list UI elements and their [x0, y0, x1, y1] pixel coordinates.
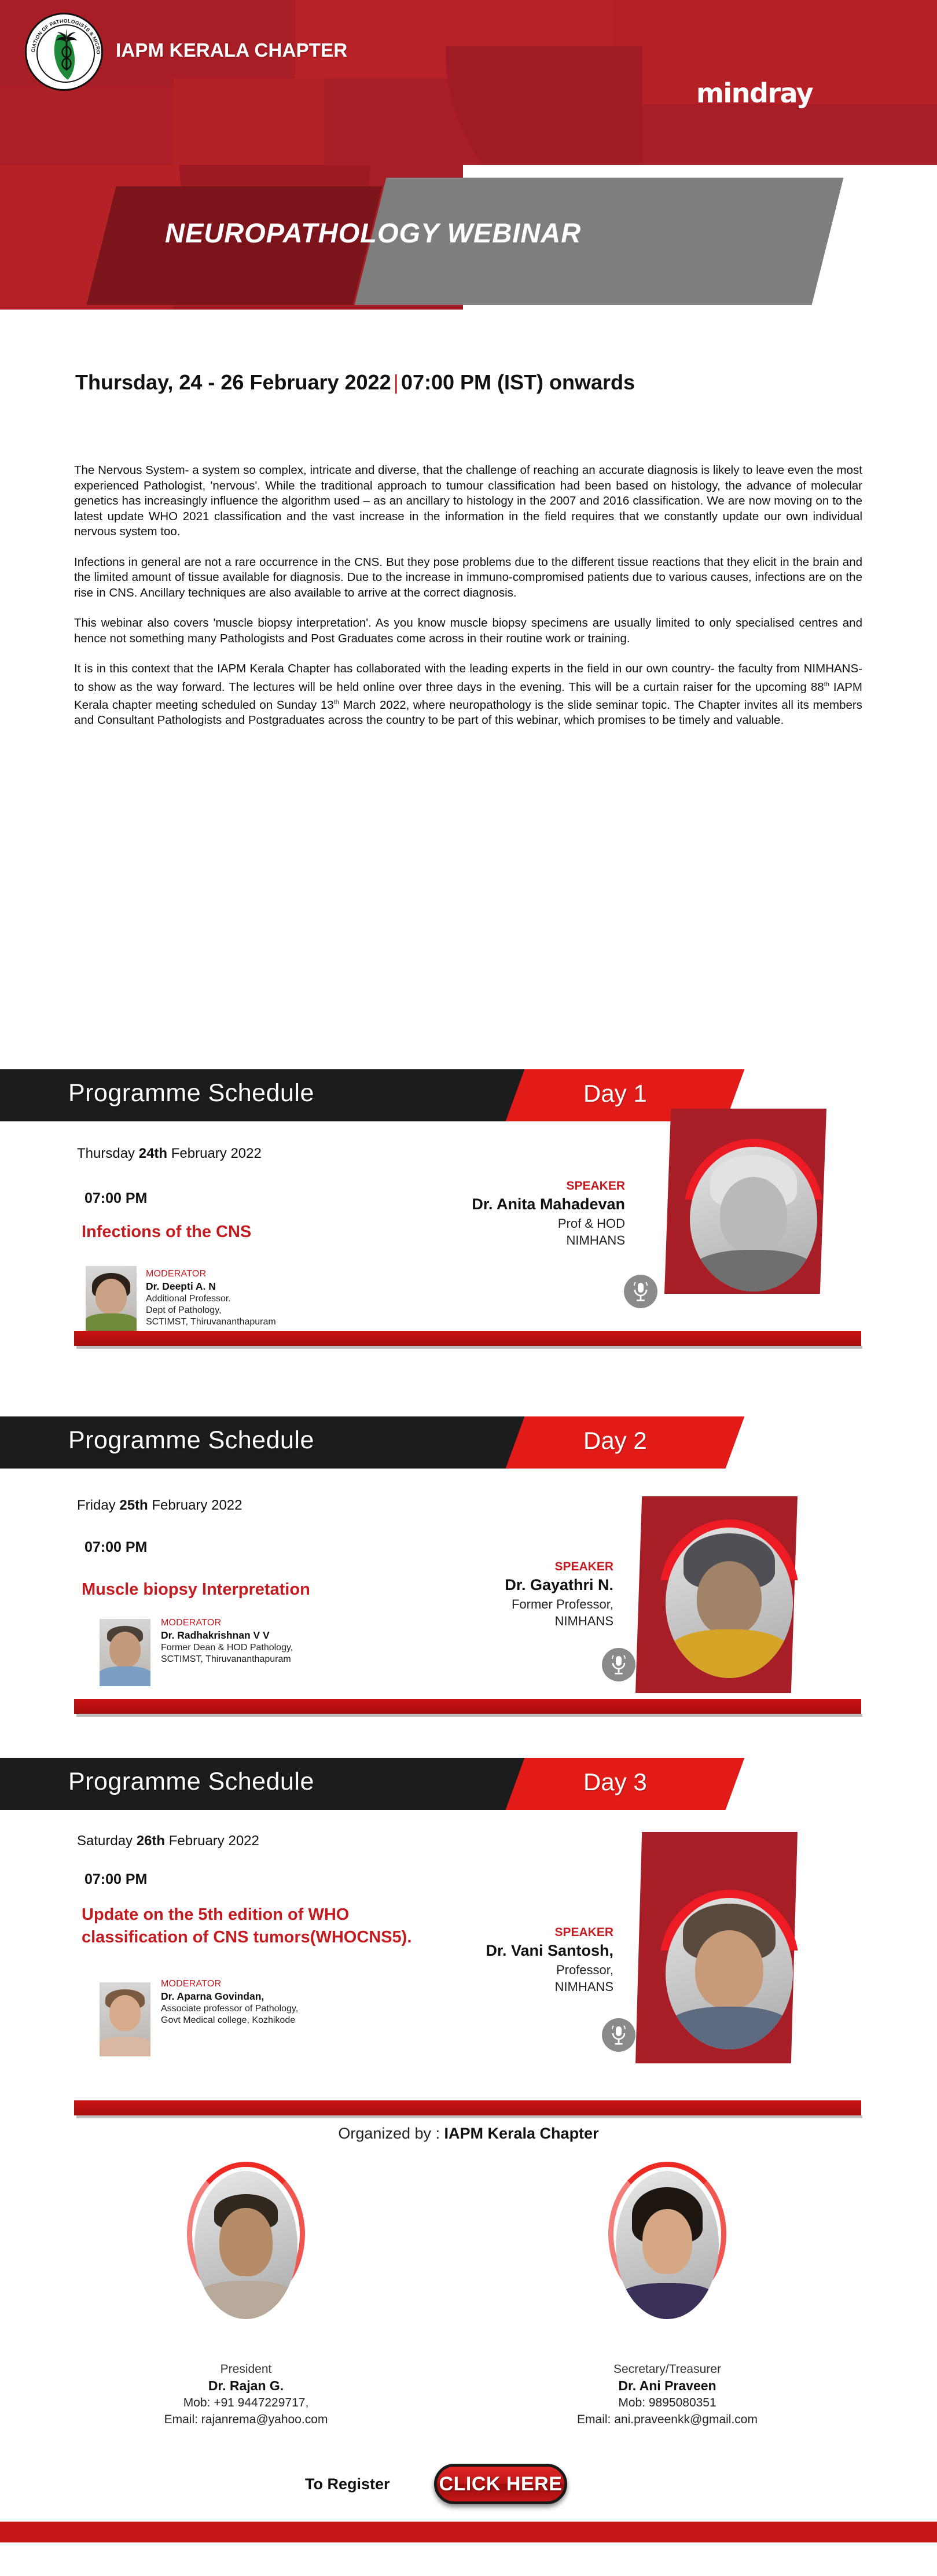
- day1-speaker-label: SPEAKER: [451, 1179, 625, 1193]
- avatar-body: [668, 1629, 791, 1678]
- day2-date-prefix: Friday: [77, 1497, 119, 1513]
- day2-divider-shadow: [76, 1714, 862, 1717]
- day2-moderator-photo: [100, 1619, 150, 1686]
- day1-moderator-photo: [86, 1266, 137, 1333]
- about-paragraph-4: It is in this context that the IAPM Kera…: [74, 661, 862, 728]
- organized-by-org: IAPM Kerala Chapter: [444, 2125, 599, 2142]
- register-row: To Register CLICK HERE: [0, 2459, 937, 2511]
- secretary-email: Email: ani.praveenkk@gmail.com: [517, 2411, 818, 2428]
- day3-moderator-photo: [100, 1982, 150, 2056]
- day3-date-prefix: Saturday: [77, 1833, 137, 1849]
- avatar: [194, 2171, 297, 2319]
- day2-date: Friday 25th February 2022: [77, 1497, 242, 1514]
- microphone-glyph: [631, 1280, 650, 1302]
- microphone-glyph: [609, 2024, 628, 2046]
- avatar-face: [95, 1279, 127, 1315]
- kerala-map-palm-caduceus-icon: [38, 25, 95, 83]
- event-datetime-line: Thursday, 24 - 26 February 2022|07:00 PM…: [75, 370, 635, 395]
- day3-speaker-name: Dr. Vani Santosh,: [359, 1942, 613, 1960]
- day-badge-2: Day 2: [583, 1427, 647, 1455]
- schedule-bar-day1: Programme Schedule Day 1: [0, 1069, 721, 1121]
- logo-inner-disc: [36, 24, 95, 83]
- header-org-title: IAPM KERALA CHAPTER: [116, 39, 347, 61]
- avatar-body: [100, 1666, 150, 1686]
- avatar-body: [618, 2283, 717, 2319]
- organized-by-prefix: Organized by :: [338, 2125, 444, 2142]
- avatar-face: [695, 1930, 763, 2009]
- day1-time: 07:00 PM: [84, 1190, 147, 1207]
- avatar-body: [86, 1313, 137, 1333]
- day1-divider: [74, 1331, 861, 1346]
- president-contact: President Dr. Rajan G. Mob: +91 94472297…: [95, 2361, 396, 2428]
- day1-moderator-affiliation: Additional Professor. Dept of Pathology,…: [146, 1293, 389, 1328]
- p4-part1: It is in this context that the IAPM Kera…: [74, 662, 862, 693]
- day2-date-suffix: February 2022: [148, 1497, 242, 1513]
- day1-date-suffix: February 2022: [167, 1146, 262, 1161]
- iapm-logo-icon: INDIAN ASSOCIATION OF PATHOLOGISTS & MIC…: [25, 13, 103, 91]
- click-here-button[interactable]: CLICK HERE: [434, 2464, 567, 2504]
- day2-speaker-affiliation: Former Professor, NIMHANS: [382, 1596, 613, 1629]
- day2-time: 07:00 PM: [84, 1539, 147, 1556]
- day-section-3: Programme Schedule Day 3 Saturday 26th F…: [0, 1758, 937, 2117]
- day2-moderator-info: MODERATOR Dr. Radhakrishnan V V Former D…: [161, 1618, 404, 1665]
- day2-speaker-label: SPEAKER: [440, 1560, 613, 1574]
- day2-speaker-name: Dr. Gayathri N.: [382, 1576, 613, 1594]
- about-body: The Nervous System- a system so complex,…: [74, 463, 862, 744]
- about-paragraph-2: Infections in general are not a rare occ…: [74, 555, 862, 601]
- avatar-body: [196, 2281, 296, 2319]
- avatar-face: [109, 1632, 141, 1668]
- day1-date-day: 24th: [139, 1146, 167, 1161]
- day2-moderator-affiliation: Former Dean & HOD Pathology, SCTIMST, Th…: [161, 1642, 404, 1665]
- webinar-banner: NEUROPATHOLOGY WEBINAR: [0, 165, 937, 310]
- day2-speaker-photo: [666, 1528, 793, 1678]
- avatar-face: [697, 1561, 762, 1635]
- day-section-2: Programme Schedule Day 2 Friday 25th Feb…: [0, 1416, 937, 1717]
- day3-divider-shadow: [76, 2115, 862, 2118]
- avatar-face: [219, 2208, 273, 2276]
- about-paragraph-3: This webinar also covers 'muscle biopsy …: [74, 616, 862, 646]
- day1-moderator-name: Dr. Deepti A. N: [146, 1280, 389, 1293]
- secretary-role: Secretary/Treasurer: [517, 2361, 818, 2378]
- avatar-body: [693, 1250, 814, 1291]
- avatar-face: [109, 1995, 141, 2031]
- microphone-icon: [602, 2018, 635, 2052]
- day3-speaker-photo: [666, 1898, 793, 2049]
- p4-sup1: th: [824, 681, 829, 688]
- day3-speaker-label: SPEAKER: [440, 1926, 613, 1940]
- day2-divider: [74, 1699, 861, 1714]
- banner-title: NEUROPATHOLOGY WEBINAR: [165, 217, 802, 249]
- day3-moderator-affiliation: Associate professor of Pathology, Govt M…: [161, 2003, 416, 2026]
- president-name: Dr. Rajan G.: [95, 2378, 396, 2394]
- schedule-title-day1: Programme Schedule: [68, 1079, 314, 1107]
- president-photo: [191, 2164, 301, 2320]
- avatar-body: [667, 2007, 791, 2049]
- microphone-icon: [602, 1648, 635, 1681]
- day1-speaker-affiliation: Prof & HOD NIMHANS: [394, 1215, 625, 1249]
- avatar-face: [642, 2209, 692, 2274]
- event-separator: |: [391, 370, 401, 394]
- header-decor-curve: [446, 46, 642, 165]
- secretary-name: Dr. Ani Praveen: [517, 2378, 818, 2394]
- footer-bar: [0, 2522, 937, 2542]
- day-badge-3: Day 3: [583, 1768, 647, 1796]
- header-decor-shape: [0, 87, 174, 165]
- schedule-title-day2: Programme Schedule: [68, 1426, 314, 1455]
- day2-moderator-name: Dr. Radhakrishnan V V: [161, 1629, 404, 1642]
- president-mobile: Mob: +91 9447229717,: [95, 2394, 396, 2411]
- page-header: INDIAN ASSOCIATION OF PATHOLOGISTS & MIC…: [0, 0, 937, 165]
- secretary-mobile: Mob: 9895080351: [517, 2394, 818, 2411]
- day1-moderator-label: MODERATOR: [146, 1269, 389, 1279]
- avatar-body: [100, 2037, 150, 2056]
- day3-date: Saturday 26th February 2022: [77, 1833, 259, 1849]
- avatar: [616, 2171, 719, 2319]
- day1-date: Thursday 24th February 2022: [77, 1146, 262, 1162]
- about-paragraph-1: The Nervous System- a system so complex,…: [74, 463, 862, 540]
- schedule-bar-day2: Programme Schedule Day 2: [0, 1416, 721, 1469]
- day3-date-suffix: February 2022: [165, 1833, 259, 1849]
- day2-date-day: 25th: [119, 1497, 148, 1513]
- day1-divider-shadow: [76, 1346, 862, 1349]
- p4-sup2: th: [334, 699, 339, 706]
- day1-moderator-info: MODERATOR Dr. Deepti A. N Additional Pro…: [146, 1269, 389, 1328]
- organized-by-line: Organized by : IAPM Kerala Chapter: [0, 2125, 937, 2143]
- microphone-icon: [624, 1275, 657, 1308]
- register-label: To Register: [305, 2475, 390, 2493]
- day3-divider: [74, 2100, 861, 2115]
- mindray-logo: mindray: [696, 80, 813, 106]
- day3-speaker-affiliation: Professor, NIMHANS: [359, 1962, 613, 1995]
- schedule-bar-day3: Programme Schedule Day 3: [0, 1758, 721, 1810]
- day3-date-day: 26th: [137, 1833, 165, 1849]
- president-role: President: [95, 2361, 396, 2378]
- header-decor-shape: [174, 78, 324, 165]
- day1-speaker-name: Dr. Anita Mahadevan: [394, 1195, 625, 1213]
- day1-date-prefix: Thursday: [77, 1146, 139, 1161]
- day-section-1: Programme Schedule Day 1 Thursday 24th F…: [0, 1069, 937, 1359]
- day1-speaker-photo: [690, 1147, 817, 1291]
- schedule-title-day3: Programme Schedule: [68, 1768, 314, 1796]
- event-date: Thursday, 24 - 26 February 2022: [75, 370, 391, 394]
- secretary-photo: [612, 2164, 722, 2320]
- secretary-contact: Secretary/Treasurer Dr. Ani Praveen Mob:…: [517, 2361, 818, 2428]
- click-here-button-label: CLICK HERE: [439, 2473, 563, 2496]
- day2-moderator-label: MODERATOR: [161, 1618, 404, 1628]
- microphone-glyph: [609, 1654, 628, 1676]
- president-email: Email: rajanrema@yahoo.com: [95, 2411, 396, 2428]
- day3-time: 07:00 PM: [84, 1871, 147, 1888]
- event-time: 07:00 PM (IST) onwards: [401, 370, 635, 394]
- avatar-face: [720, 1177, 787, 1253]
- day1-topic: Infections of the CNS: [82, 1221, 440, 1243]
- day-badge-1: Day 1: [583, 1080, 647, 1107]
